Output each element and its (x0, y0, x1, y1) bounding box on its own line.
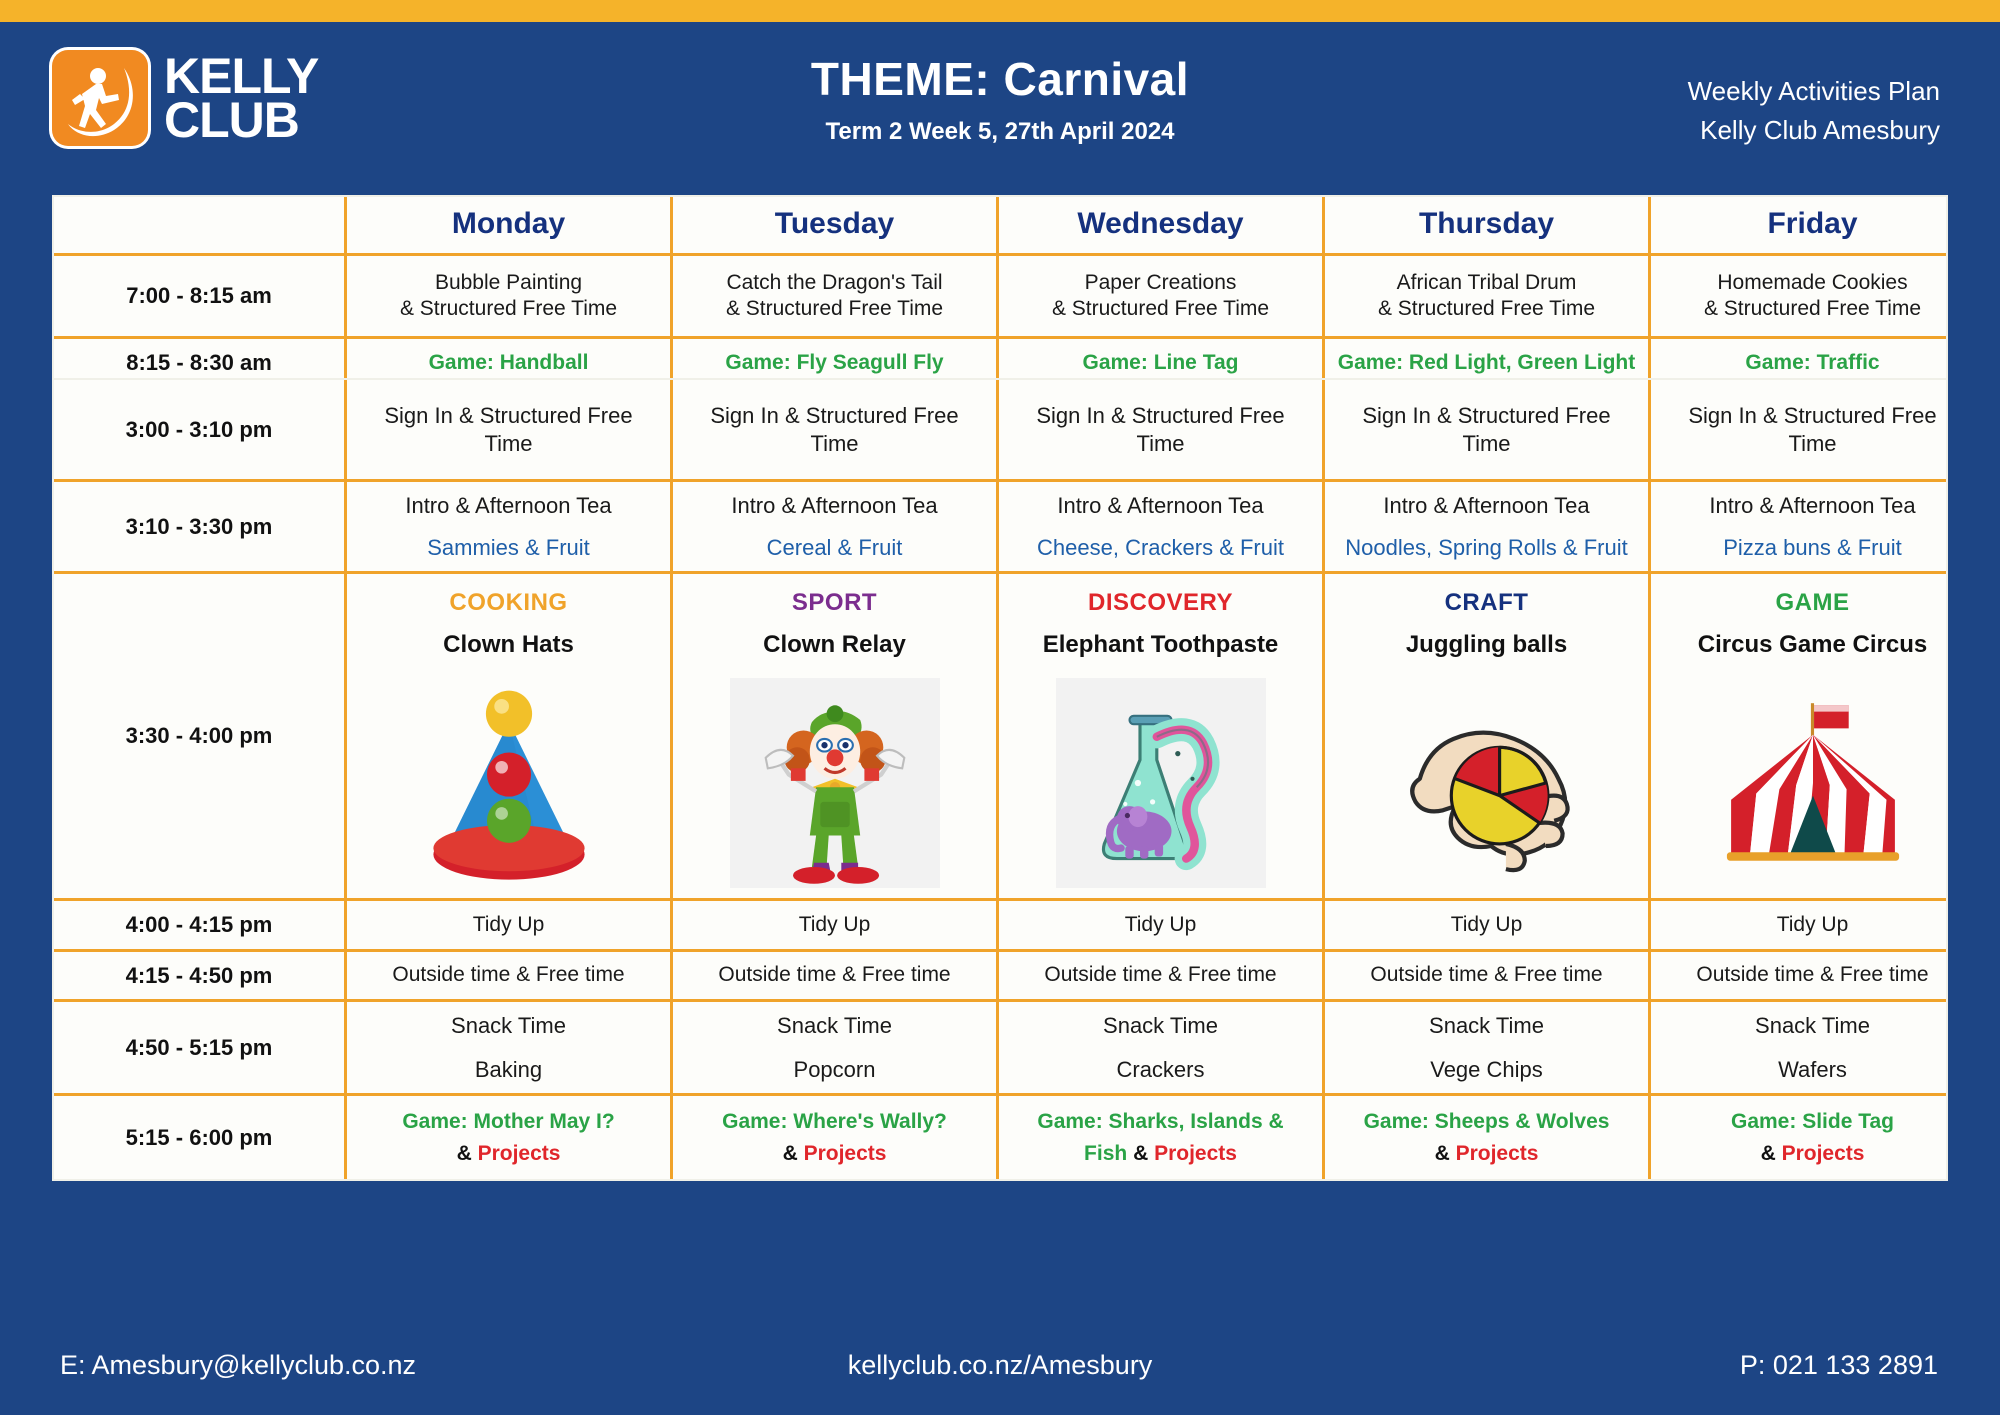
activity-detail: & Structured Free Time (1052, 296, 1269, 322)
ampersand: & (1133, 1142, 1154, 1165)
day-header-row: Monday Tuesday Wednesday Thursday Friday (54, 197, 1946, 253)
ampersand: & (783, 1142, 804, 1165)
tea-cell: Intro & Afternoon Tea Noodles, Spring Ro… (1322, 482, 1648, 571)
snack-cell: Snack Time Vege Chips (1322, 1002, 1648, 1093)
evening-cell: Game: Sharks, Islands & Fish & Projects (996, 1096, 1322, 1179)
ampersand: & (457, 1142, 478, 1165)
outside-cell: Outside time & Free time (996, 952, 1322, 1000)
party-hat-icon (404, 678, 614, 888)
day-header-monday: Monday (344, 197, 670, 253)
signin-cell: Sign In & Structured Free Time (996, 380, 1322, 479)
snack-item: Baking (475, 1056, 542, 1084)
projects-label: Projects (804, 1142, 887, 1165)
circus-tent-icon (1708, 678, 1918, 888)
activity-cell: Paper Creations & Structured Free Time (996, 256, 1322, 337)
activity-cell: African Tribal Drum & Structured Free Ti… (1322, 256, 1648, 337)
game-label: Game: Handball (429, 350, 589, 376)
activity-title: Catch the Dragon's Tail (726, 270, 942, 296)
activity-detail: & Structured Free Time (726, 296, 943, 322)
evening-game-label-cont: Fish (1084, 1142, 1133, 1165)
game-label: Game: Fly Seagull Fly (725, 350, 943, 376)
activity-name: Circus Game Circus (1698, 630, 1927, 660)
tidy-cell: Tidy Up (996, 901, 1322, 949)
outside-cell: Outside time & Free time (1322, 952, 1648, 1000)
time-label: 3:30 - 4:00 pm (54, 574, 344, 898)
clown-icon (730, 678, 940, 888)
page-header: KELLY CLUB THEME: Carnival Term 2 Week 5… (0, 22, 2000, 190)
afternoon-schedule-table: 3:00 - 3:10 pm Sign In & Structured Free… (52, 378, 1948, 1181)
tidy-cell: Tidy Up (1322, 901, 1648, 949)
activity-title: Homemade Cookies (1717, 270, 1907, 296)
bottom-accent-bar (0, 1407, 2000, 1415)
header-right: Weekly Activities Plan Kelly Club Amesbu… (1688, 72, 1940, 150)
tea-label: Intro & Afternoon Tea (731, 492, 937, 520)
main-activity-cell: COOKING Clown Hats (344, 574, 670, 898)
page-footer: E: Amesbury@kellyclub.co.nz kellyclub.co… (0, 1315, 2000, 1415)
time-label: 3:00 - 3:10 pm (54, 380, 344, 479)
time-label: 7:00 - 8:15 am (54, 256, 344, 337)
evening-game-label: Game: Sharks, Islands & (1037, 1110, 1283, 1133)
game-label: Game: Traffic (1745, 350, 1879, 376)
tea-item: Pizza buns & Fruit (1723, 534, 1902, 562)
outside-cell: Outside time & Free time (670, 952, 996, 1000)
row-outside-time: 4:15 - 4:50 pm Outside time & Free time … (54, 949, 1946, 1000)
snack-label: Snack Time (1755, 1012, 1870, 1040)
snack-label: Snack Time (777, 1012, 892, 1040)
activity-category: CRAFT (1445, 588, 1529, 618)
activities-plan-page: KELLY CLUB THEME: Carnival Term 2 Week 5… (0, 0, 2000, 1415)
main-activity-cell: GAME Circus Game Circus (1648, 574, 1974, 898)
snack-label: Snack Time (1429, 1012, 1544, 1040)
snack-cell: Snack Time Wafers (1648, 1002, 1974, 1093)
tea-cell: Intro & Afternoon Tea Cheese, Crackers &… (996, 482, 1322, 571)
activity-name: Clown Relay (763, 630, 906, 660)
time-label: 5:15 - 6:00 pm (54, 1096, 344, 1179)
main-activity-cell: CRAFT Juggling balls (1322, 574, 1648, 898)
activity-title: African Tribal Drum (1397, 270, 1577, 296)
tea-label: Intro & Afternoon Tea (1709, 492, 1915, 520)
projects-label: Projects (1456, 1142, 1539, 1165)
snack-label: Snack Time (1103, 1012, 1218, 1040)
day-header-friday: Friday (1648, 197, 1974, 253)
time-label: 3:10 - 3:30 pm (54, 482, 344, 571)
projects-label: Projects (478, 1142, 561, 1165)
evening-cell: Game: Sheeps & Wolves & Projects (1322, 1096, 1648, 1179)
snack-item: Vege Chips (1430, 1056, 1543, 1084)
activity-detail: & Structured Free Time (1704, 296, 1921, 322)
activity-detail: & Structured Free Time (1378, 296, 1595, 322)
row-evening-game: 5:15 - 6:00 pm Game: Mother May I? & Pro… (54, 1093, 1946, 1179)
hand-juggling-ball-icon (1382, 678, 1592, 888)
activity-cell: Homemade Cookies & Structured Free Time (1648, 256, 1974, 337)
row-early-morning: 7:00 - 8:15 am Bubble Painting & Structu… (54, 253, 1946, 337)
activity-category: SPORT (792, 588, 877, 618)
day-header-tuesday: Tuesday (670, 197, 996, 253)
activity-title: Paper Creations (1085, 270, 1237, 296)
row-tidy-up: 4:00 - 4:15 pm Tidy Up Tidy Up Tidy Up T… (54, 898, 1946, 949)
game-label: Game: Line Tag (1083, 350, 1239, 376)
time-label: 4:15 - 4:50 pm (54, 952, 344, 1000)
activity-detail: & Structured Free Time (400, 296, 617, 322)
tidy-cell: Tidy Up (344, 901, 670, 949)
centre-name: Kelly Club Amesbury (1688, 111, 1940, 150)
projects-label: Projects (1154, 1142, 1237, 1165)
activity-category: GAME (1776, 588, 1850, 618)
tidy-cell: Tidy Up (1648, 901, 1974, 949)
activity-name: Juggling balls (1406, 630, 1567, 660)
snack-label: Snack Time (451, 1012, 566, 1040)
row-main-activity: 3:30 - 4:00 pm COOKING Clown Hats (54, 571, 1946, 898)
footer-website[interactable]: kellyclub.co.nz/Amesbury (0, 1350, 2000, 1381)
signin-cell: Sign In & Structured Free Time (670, 380, 996, 479)
activity-name: Elephant Toothpaste (1043, 630, 1279, 660)
snack-cell: Snack Time Crackers (996, 1002, 1322, 1093)
tea-item: Cereal & Fruit (767, 534, 903, 562)
main-activity-cell: SPORT Clown Relay (670, 574, 996, 898)
tidy-cell: Tidy Up (670, 901, 996, 949)
top-accent-bar (0, 0, 2000, 22)
snack-cell: Snack Time Popcorn (670, 1002, 996, 1093)
footer-phone[interactable]: P: 021 133 2891 (1740, 1350, 1938, 1381)
plan-label: Weekly Activities Plan (1688, 72, 1940, 111)
evening-cell: Game: Mother May I? & Projects (344, 1096, 670, 1179)
activity-category: COOKING (449, 588, 567, 618)
day-header-wednesday: Wednesday (996, 197, 1322, 253)
activity-name: Clown Hats (443, 630, 574, 660)
activity-cell: Bubble Painting & Structured Free Time (344, 256, 670, 337)
tea-cell: Intro & Afternoon Tea Sammies & Fruit (344, 482, 670, 571)
ampersand: & (1761, 1142, 1782, 1165)
snack-item: Wafers (1778, 1056, 1847, 1084)
main-activity-cell: DISCOVERY Elephant Toothpaste (996, 574, 1322, 898)
time-label: 4:50 - 5:15 pm (54, 1002, 344, 1093)
ampersand: & (1435, 1142, 1456, 1165)
evening-cell: Game: Slide Tag & Projects (1648, 1096, 1974, 1179)
evening-game-label: Game: Where's Wally? (722, 1110, 947, 1133)
snack-item: Crackers (1116, 1056, 1204, 1084)
tea-item: Sammies & Fruit (427, 534, 590, 562)
tea-item: Cheese, Crackers & Fruit (1037, 534, 1284, 562)
time-label: 4:00 - 4:15 pm (54, 901, 344, 949)
evening-cell: Game: Where's Wally? & Projects (670, 1096, 996, 1179)
snack-cell: Snack Time Baking (344, 1002, 670, 1093)
outside-cell: Outside time & Free time (1648, 952, 1974, 1000)
row-sign-in: 3:00 - 3:10 pm Sign In & Structured Free… (54, 380, 1946, 479)
signin-cell: Sign In & Structured Free Time (1648, 380, 1974, 479)
morning-schedule-table: Monday Tuesday Wednesday Thursday Friday… (52, 195, 1948, 389)
tea-item: Noodles, Spring Rolls & Fruit (1345, 534, 1627, 562)
day-header-thursday: Thursday (1322, 197, 1648, 253)
evening-game-label: Game: Mother May I? (402, 1110, 614, 1133)
tea-cell: Intro & Afternoon Tea Cereal & Fruit (670, 482, 996, 571)
activity-category: DISCOVERY (1088, 588, 1233, 618)
flask-elephant-icon (1056, 678, 1266, 888)
signin-cell: Sign In & Structured Free Time (344, 380, 670, 479)
tea-cell: Intro & Afternoon Tea Pizza buns & Fruit (1648, 482, 1974, 571)
signin-cell: Sign In & Structured Free Time (1322, 380, 1648, 479)
projects-label: Projects (1782, 1142, 1865, 1165)
activity-cell: Catch the Dragon's Tail & Structured Fre… (670, 256, 996, 337)
row-afternoon-tea: 3:10 - 3:30 pm Intro & Afternoon Tea Sam… (54, 479, 1946, 571)
tea-label: Intro & Afternoon Tea (1383, 492, 1589, 520)
evening-game-label: Game: Slide Tag (1731, 1110, 1894, 1133)
snack-item: Popcorn (794, 1056, 876, 1084)
row-snack-time: 4:50 - 5:15 pm Snack Time Baking Snack T… (54, 999, 1946, 1093)
outside-cell: Outside time & Free time (344, 952, 670, 1000)
game-label: Game: Red Light, Green Light (1338, 350, 1636, 376)
corner-cell (54, 197, 344, 253)
evening-game-label: Game: Sheeps & Wolves (1364, 1110, 1610, 1133)
tea-label: Intro & Afternoon Tea (1057, 492, 1263, 520)
tea-label: Intro & Afternoon Tea (405, 492, 611, 520)
activity-title: Bubble Painting (435, 270, 582, 296)
